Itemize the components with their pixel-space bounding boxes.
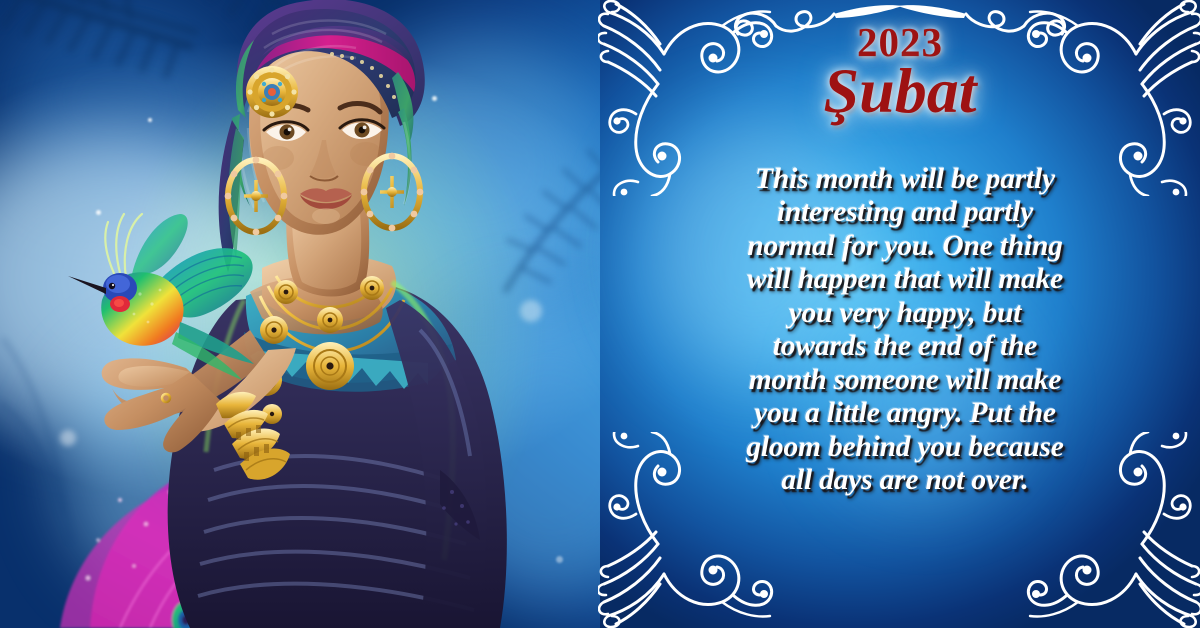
forecast-line: interesting and partly bbox=[666, 196, 1144, 229]
forecast-line: normal for you. One thing bbox=[666, 230, 1144, 263]
turban-brooch bbox=[246, 66, 298, 118]
forecast-text: This month will be partly interesting an… bbox=[666, 163, 1144, 498]
forecast-line: you very happy, but bbox=[666, 297, 1144, 330]
forecast-line: will happen that will make bbox=[666, 263, 1144, 296]
forecast-line: towards the end of the bbox=[666, 330, 1144, 363]
forecast-panel: 2023 Şubat This month will be partly int… bbox=[600, 0, 1200, 628]
forecast-line: month someone will make bbox=[666, 364, 1144, 397]
month-label: Şubat bbox=[600, 54, 1200, 128]
horoscope-card: 2023 Şubat This month will be partly int… bbox=[0, 0, 1200, 628]
forecast-line: all days are not over. bbox=[666, 464, 1144, 497]
forecast-line: gloom behind you because bbox=[666, 431, 1144, 464]
fortune-teller-illustration bbox=[0, 0, 620, 628]
forecast-line: This month will be partly bbox=[666, 163, 1144, 196]
forecast-line: you a little angry. Put the bbox=[666, 397, 1144, 430]
